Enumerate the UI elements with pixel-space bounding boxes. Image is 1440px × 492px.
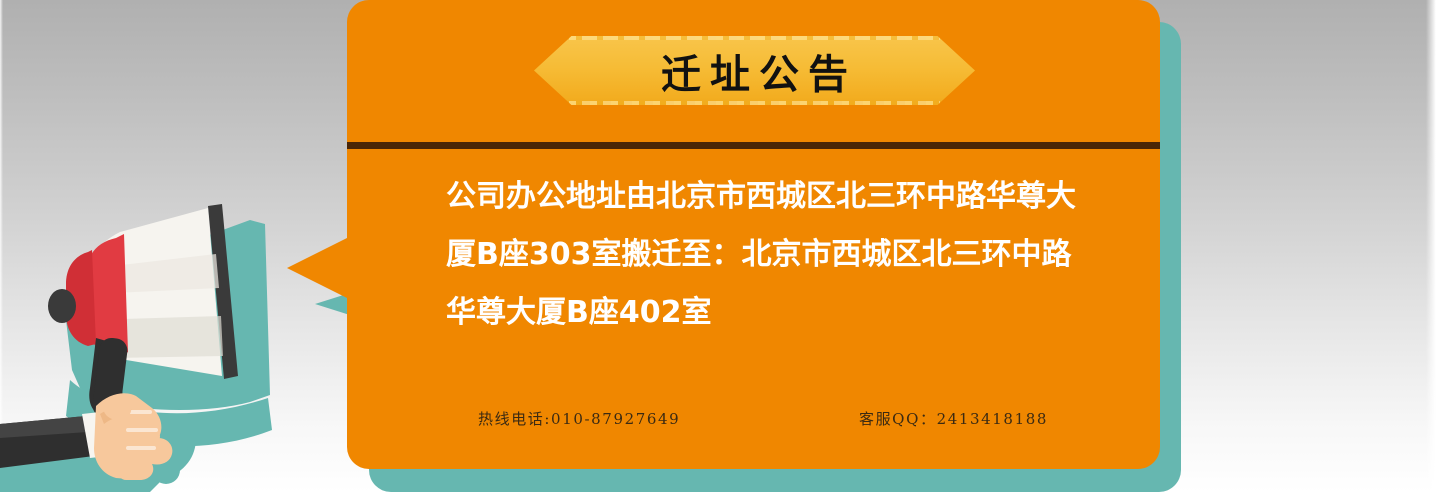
qq-text: 客服QQ：2413418188: [859, 408, 1048, 429]
announcement-banner-image: 迁址公告 公司办公地址由北京市西城区北三环中路华尊大厦B座303室搬迁至：北京市…: [0, 0, 1440, 492]
megaphone-illustration: [0, 180, 320, 492]
finger-4: [118, 464, 148, 480]
page-title: 迁址公告: [534, 36, 975, 105]
finger-highlight-3: [126, 446, 156, 450]
divider: [347, 142, 1160, 149]
footer-contacts: 热线电话:010-87927649 客服QQ：2413418188: [446, 408, 1086, 429]
announcement-body-text: 公司办公地址由北京市西城区北三环中路华尊大厦B座303室搬迁至：北京市西城区北三…: [446, 168, 1096, 342]
background-right-fade: [1426, 0, 1440, 492]
hotline-text: 热线电话:010-87927649: [478, 408, 680, 429]
megaphone-back-nub: [48, 289, 76, 323]
finger-highlight-2: [126, 428, 158, 432]
speech-tail: [287, 237, 349, 299]
